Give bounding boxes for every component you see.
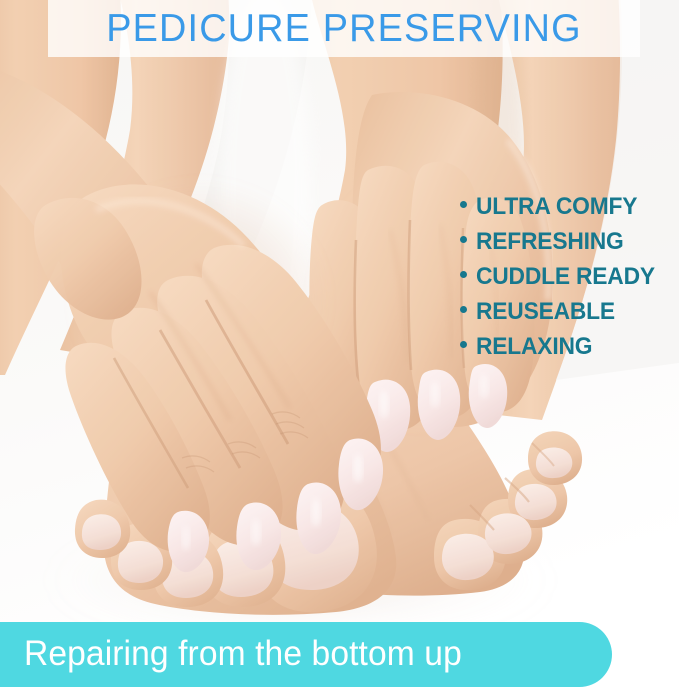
feature-item-ultra-comfy: ULTRA COMFY (460, 193, 679, 228)
feature-item-relaxing: RELAXING (460, 333, 679, 368)
bullet-dot-icon (460, 271, 467, 278)
product-marketing-image: PEDICURE PRESERVING ULTRA COMFY REFRESHI… (0, 0, 679, 687)
bullet-dot-icon (460, 236, 467, 243)
feature-label: REUSEABLE (476, 298, 615, 326)
bullet-dot-icon (460, 341, 467, 348)
feature-label: ULTRA COMFY (476, 193, 637, 221)
feature-label: REFRESHING (476, 228, 624, 256)
banner-tagline: Repairing from the bottom up (24, 623, 462, 685)
feature-list: ULTRA COMFY REFRESHING CUDDLE READY REUS… (460, 193, 679, 368)
bullet-dot-icon (460, 306, 467, 313)
feature-item-refreshing: REFRESHING (460, 228, 679, 263)
feature-label: CUDDLE READY (476, 263, 655, 291)
feature-item-cuddle-ready: CUDDLE READY (460, 263, 679, 298)
bullet-dot-icon (460, 201, 467, 208)
page-title: PEDICURE PRESERVING (57, 1, 631, 57)
feature-item-reuseable: REUSEABLE (460, 298, 679, 333)
feature-label: RELAXING (476, 333, 592, 361)
